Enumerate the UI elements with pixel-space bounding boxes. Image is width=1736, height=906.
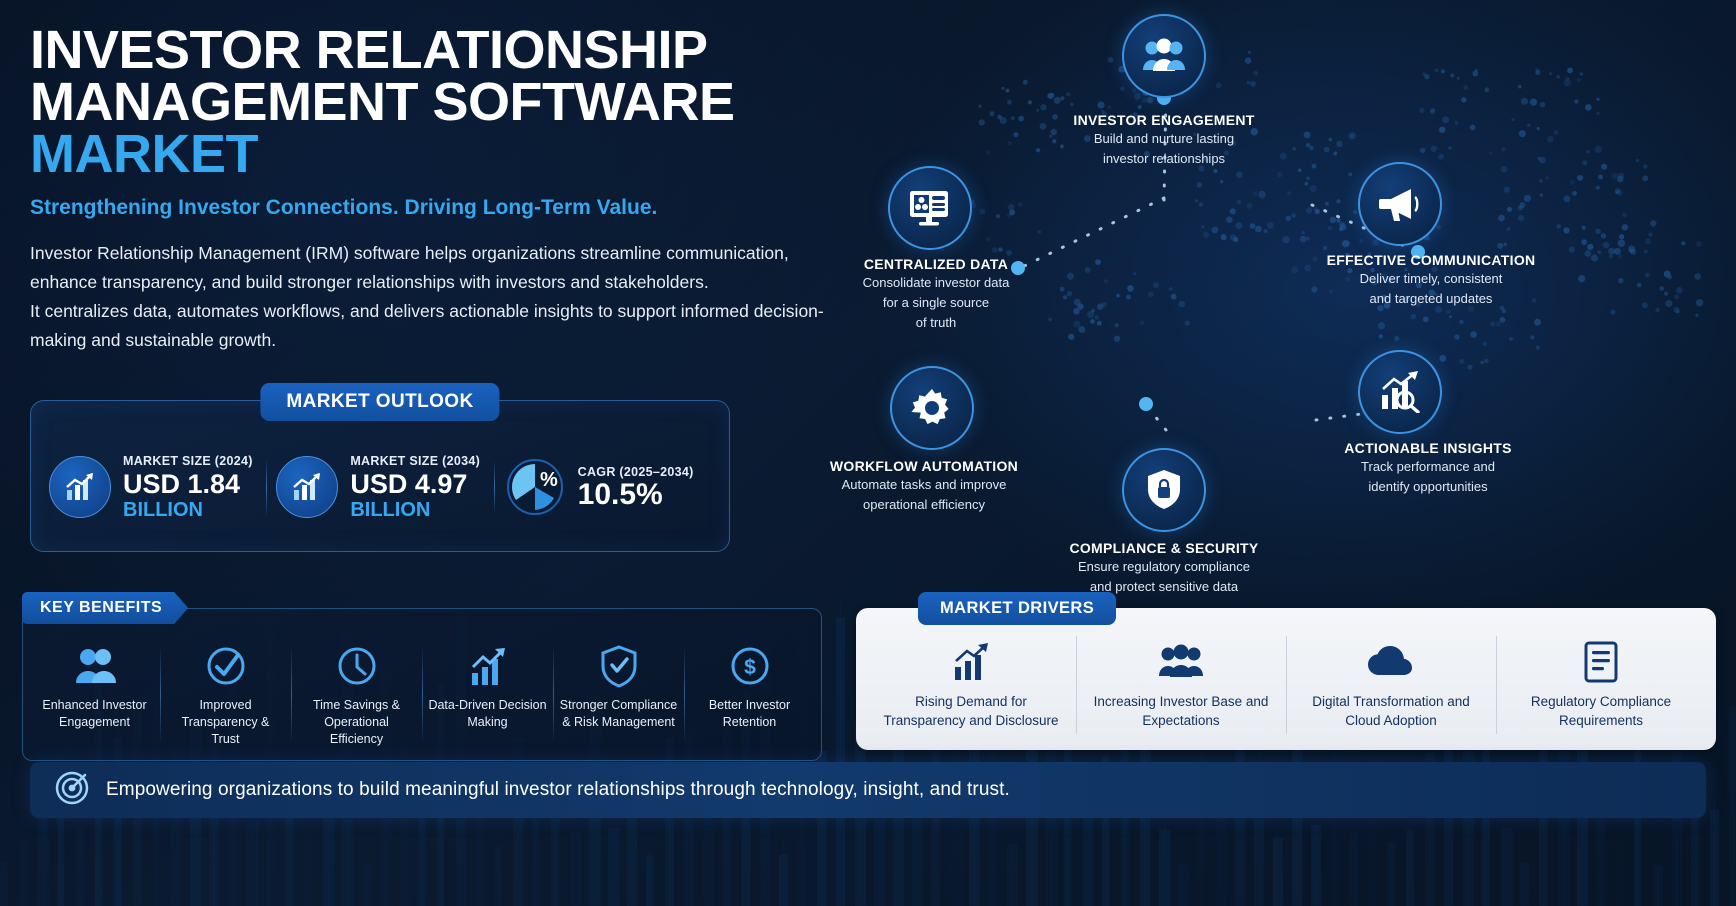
stat-label: MARKET SIZE (2034) [350, 454, 480, 468]
pie-percent-icon: % [504, 456, 566, 518]
document-icon [1506, 640, 1696, 684]
hub-node-actionable-insights[interactable] [1358, 350, 1442, 434]
hub-node-desc-line: Consolidate investor data [806, 274, 1066, 292]
shield-check-icon [559, 643, 678, 689]
hub-label-workflow-automation: WORKFLOW AUTOMATION Automate tasks and i… [794, 458, 1054, 514]
hub-node-title: CENTRALIZED DATA [806, 256, 1066, 272]
driver-caption: Increasing Investor Base and Expectation… [1086, 692, 1276, 730]
hub-node-desc-line: investor relationships [1034, 150, 1294, 168]
hub-node-centralized-data[interactable] [888, 166, 972, 250]
footer-text: Empowering organizations to build meanin… [106, 779, 1010, 801]
svg-text:%: % [540, 469, 558, 491]
chart-magnifier-icon [1358, 350, 1442, 434]
check-circle-icon [166, 643, 285, 689]
hub-label-centralized-data: CENTRALIZED DATA Consolidate investor da… [806, 256, 1066, 332]
benefit-caption: Better Investor Retention [690, 697, 809, 731]
infographic-root: INVESTOR RELATIONSHIP MANAGEMENT SOFTWAR… [0, 0, 1736, 906]
stat-value: USD 1.84 [123, 469, 253, 499]
stat-market-size-2034: MARKET SIZE (2034) USD 4.97 BILLION [266, 454, 493, 521]
driver-caption: Rising Demand for Transparency and Discl… [876, 692, 1066, 730]
footer-banner: Empowering organizations to build meanin… [30, 762, 1706, 818]
hub-node-desc-line: for a single source [806, 294, 1066, 312]
title-line-2: MANAGEMENT SOFTWARE [30, 72, 734, 132]
cloud-icon [1296, 640, 1486, 684]
driver-item: Regulatory Compliance Requirements [1496, 634, 1706, 736]
people-group-icon [1086, 640, 1276, 684]
monitor-data-icon [888, 166, 972, 250]
intro-paragraph-1: Investor Relationship Management (IRM) s… [30, 239, 830, 297]
hub-node-desc-line: Deliver timely, consistent [1301, 270, 1561, 288]
dollar-circle-icon: $ [690, 643, 809, 689]
market-drivers-list: Rising Demand for Transparency and Discl… [866, 634, 1706, 736]
hub-node-investor-engagement[interactable] [1122, 14, 1206, 98]
intro-text: Investor Relationship Management (IRM) s… [30, 239, 830, 355]
benefit-item: Stronger Compliance & Risk Management [553, 639, 684, 750]
clock-icon [297, 643, 416, 689]
hub-label-effective-communication: EFFECTIVE COMMUNICATION Deliver timely, … [1301, 252, 1561, 308]
hub-node-desc-line: Track performance and [1298, 458, 1558, 476]
hub-node-desc-line: Automate tasks and improve [794, 476, 1054, 494]
hub-node-effective-communication[interactable] [1358, 162, 1442, 246]
gear-icon [890, 366, 974, 450]
key-benefits-box: Enhanced Investor Engagement Improved Tr… [22, 608, 822, 761]
hub-node-desc-line: Build and nurture lasting [1034, 130, 1294, 148]
hub-node-desc-line: operational efficiency [794, 496, 1054, 514]
hub-diagram: STRONGER RELATIONSHIPS. GREATER VALUE. I… [846, 0, 1736, 620]
hub-node-desc-line: identify opportunities [1298, 478, 1558, 496]
bar-arrow-icon [428, 643, 547, 689]
growth-chart-icon [49, 456, 111, 518]
hub-node-workflow-automation[interactable] [890, 366, 974, 450]
stat-label: MARKET SIZE (2024) [123, 454, 253, 468]
benefit-caption: Improved Transparency & Trust [166, 697, 285, 748]
benefit-item: Improved Transparency & Trust [160, 639, 291, 750]
key-benefits-section: KEY BENEFITS Enhanced Investor Engagemen… [22, 592, 822, 761]
benefit-caption: Time Savings & Operational Efficiency [297, 697, 416, 748]
growth-chart-icon [276, 456, 338, 518]
stat-label: CAGR (2025–2034) [578, 465, 694, 479]
benefit-item: Time Savings & Operational Efficiency [291, 639, 422, 750]
hub-node-title: INVESTOR ENGAGEMENT [1034, 112, 1294, 128]
hub-node-desc-line: Ensure regulatory compliance [1034, 558, 1294, 576]
investor-group-icon [1122, 14, 1206, 98]
header-block: INVESTOR RELATIONSHIP MANAGEMENT SOFTWAR… [30, 24, 830, 355]
stat-cagr: % CAGR (2025–2034) 10.5% [494, 456, 721, 518]
benefit-item: Enhanced Investor Engagement [29, 639, 160, 750]
page-title: INVESTOR RELATIONSHIP MANAGEMENT SOFTWAR… [30, 24, 830, 180]
driver-item: Rising Demand for Transparency and Discl… [866, 634, 1076, 736]
hub-label-actionable-insights: ACTIONABLE INSIGHTS Track performance an… [1298, 440, 1558, 496]
market-outlook-chip: MARKET OUTLOOK [260, 383, 499, 421]
market-outlook-stats: MARKET SIZE (2024) USD 1.84 BILLION [31, 401, 729, 551]
market-drivers-section: MARKET DRIVERS Rising Demand for Transpa… [856, 608, 1716, 750]
hub-node-desc-line: and targeted updates [1301, 290, 1561, 308]
market-outlook-panel: MARKET OUTLOOK MARKET SIZE (2024) [30, 400, 730, 552]
benefit-caption: Data-Driven Decision Making [428, 697, 547, 731]
hub-node-compliance-security[interactable] [1122, 448, 1206, 532]
growth-chart-icon [876, 640, 1066, 684]
people-icon [35, 643, 154, 689]
key-benefits-tab: KEY BENEFITS [22, 592, 188, 624]
megaphone-icon [1358, 162, 1442, 246]
market-outlook-section: MARKET OUTLOOK MARKET SIZE (2024) [30, 400, 730, 552]
shield-lock-icon [1122, 448, 1206, 532]
page-subtitle: Strengthening Investor Connections. Driv… [30, 196, 830, 220]
driver-item: Digital Transformation and Cloud Adoptio… [1286, 634, 1496, 736]
hub-node-title: WORKFLOW AUTOMATION [794, 458, 1054, 474]
intro-paragraph-2: It centralizes data, automates workflows… [30, 297, 830, 355]
benefit-caption: Enhanced Investor Engagement [35, 697, 154, 731]
benefit-item: Data-Driven Decision Making [422, 639, 553, 750]
title-accent: MARKET [30, 128, 830, 180]
driver-caption: Regulatory Compliance Requirements [1506, 692, 1696, 730]
hub-node-desc-line: of truth [806, 314, 1066, 332]
hub-node-title: COMPLIANCE & SECURITY [1034, 540, 1294, 556]
target-icon [54, 770, 90, 811]
svg-text:$: $ [744, 656, 756, 679]
hub-label-investor-engagement: INVESTOR ENGAGEMENT Build and nurture la… [1034, 112, 1294, 168]
hub-node-title: EFFECTIVE COMMUNICATION [1301, 252, 1561, 268]
benefit-item: $ Better Investor Retention [684, 639, 815, 750]
stat-market-size-2024: MARKET SIZE (2024) USD 1.84 BILLION [39, 454, 266, 521]
driver-item: Increasing Investor Base and Expectation… [1076, 634, 1286, 736]
driver-caption: Digital Transformation and Cloud Adoptio… [1296, 692, 1486, 730]
market-drivers-box: MARKET DRIVERS Rising Demand for Transpa… [856, 608, 1716, 750]
stat-unit: BILLION [123, 499, 253, 521]
hub-label-compliance-security: COMPLIANCE & SECURITY Ensure regulatory … [1034, 540, 1294, 596]
stat-value: USD 4.97 [350, 469, 480, 499]
benefit-caption: Stronger Compliance & Risk Management [559, 697, 678, 731]
key-benefits-list: Enhanced Investor Engagement Improved Tr… [29, 639, 815, 750]
stat-value: 10.5% [578, 480, 694, 510]
hub-node-title: ACTIONABLE INSIGHTS [1298, 440, 1558, 456]
market-drivers-chip: MARKET DRIVERS [918, 592, 1116, 625]
title-line-1: INVESTOR RELATIONSHIP [30, 20, 708, 80]
stat-unit: BILLION [350, 499, 480, 521]
